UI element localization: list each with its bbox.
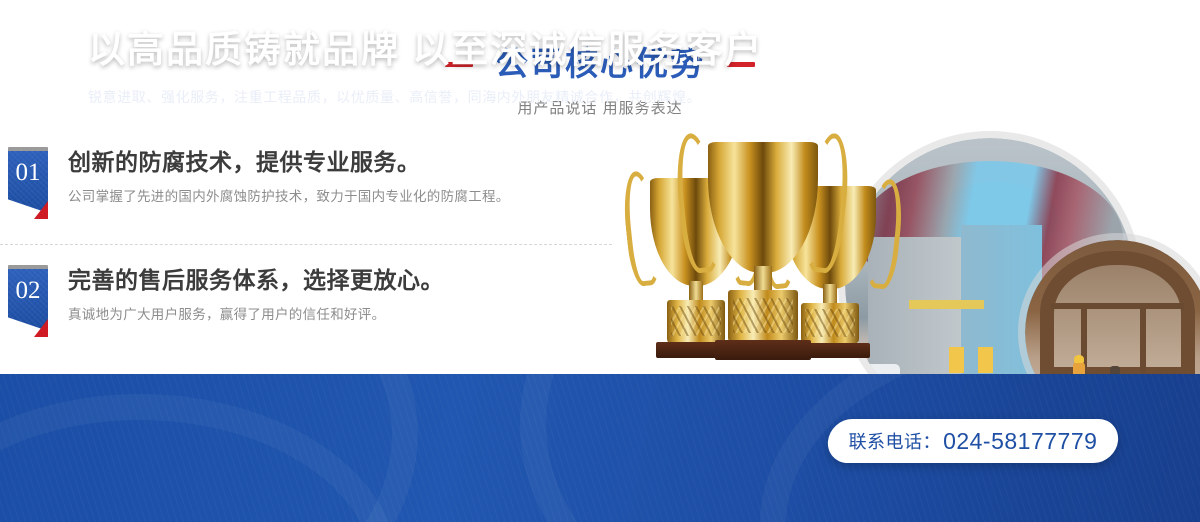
- feature-description: 真诚地为广大用户服务，赢得了用户的信任和好评。: [68, 305, 628, 325]
- list-item: 02 完善的售后服务体系，选择更放心。 真诚地为广大用户服务，赢得了用户的信任和…: [0, 263, 640, 363]
- badge-number: 02: [8, 277, 48, 305]
- trophy-center-icon: [708, 142, 818, 360]
- divider: [0, 244, 612, 245]
- trophy-group: [642, 130, 912, 380]
- feature-title: 完善的售后服务体系，选择更放心。: [68, 263, 628, 297]
- list-item: 01 创新的防腐技术，提供专业服务。 公司掌握了先进的国内外腐蚀防护技术，致力于…: [0, 145, 640, 245]
- site-post-shape: [1140, 303, 1146, 381]
- plant-window-shape: [978, 347, 993, 373]
- artwork-area: [620, 120, 1200, 385]
- feature-number-badge: 01: [8, 147, 48, 213]
- banner-slogan-sub: 锐意进取、强化服务，注重工程品质，以优质量、高信誉，同海内外朋友精诚合作，共创辉…: [88, 86, 788, 108]
- site-arch-shape: [1040, 251, 1195, 381]
- trophy-bowl: [708, 142, 818, 273]
- contact-phone-label: 联系电话：: [849, 428, 942, 454]
- feature-list: 01 创新的防腐技术，提供专业服务。 公司掌握了先进的国内外腐蚀防护技术，致力于…: [0, 145, 640, 363]
- plant-window-shape: [949, 347, 964, 373]
- feature-number-badge: 02: [8, 265, 48, 331]
- feature-body: 完善的售后服务体系，选择更放心。 真诚地为广大用户服务，赢得了用户的信任和好评。: [68, 263, 628, 325]
- trophy-base: [728, 290, 798, 342]
- plant-railing-shape: [909, 300, 984, 309]
- banner-slogan: 以高品质铸就品牌 以至深诚信服务客户: [88, 26, 788, 74]
- contact-phone-number[interactable]: 024-58177779: [943, 428, 1097, 455]
- feature-title: 创新的防腐技术，提供专业服务。: [68, 145, 628, 179]
- contact-phone-pill[interactable]: 联系电话： 024-58177779: [826, 419, 1121, 463]
- feature-body: 创新的防腐技术，提供专业服务。 公司掌握了先进的国内外腐蚀防护技术，致力于国内专…: [68, 145, 628, 207]
- trophy-plinth: [715, 340, 812, 360]
- site-beam-shape: [1051, 303, 1184, 309]
- contact-phone-inner: 联系电话： 024-58177779: [828, 419, 1118, 463]
- feature-description: 公司掌握了先进的国内外腐蚀防护技术，致力于国内专业化的防腐工程。: [68, 187, 628, 207]
- company-advantages-section: 公司核心优势 用产品说话 用服务表达 01 创新的防腐技术，提供专业服务。 公司…: [0, 0, 1200, 522]
- badge-number: 01: [8, 159, 48, 187]
